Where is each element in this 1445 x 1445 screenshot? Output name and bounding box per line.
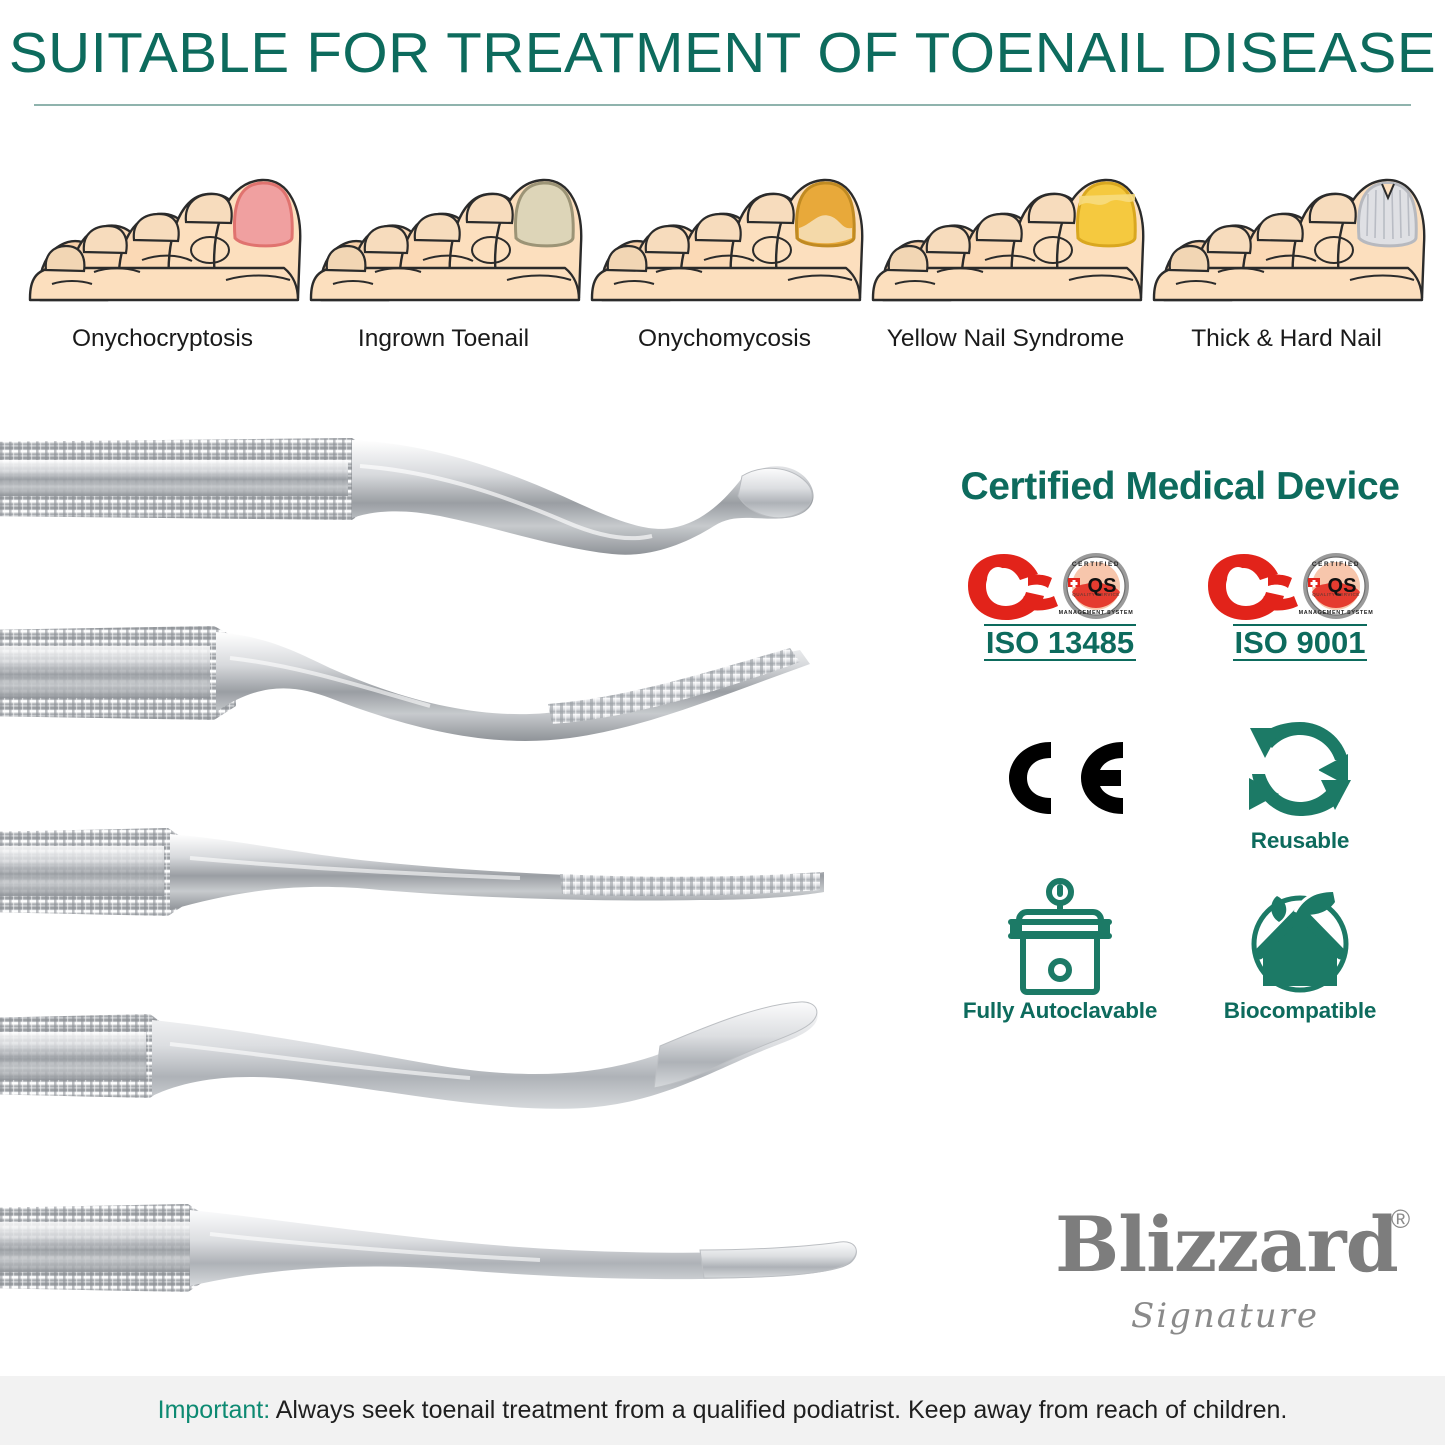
- footer-bar: Important: Always seek toenail treatment…: [0, 1376, 1445, 1445]
- svg-text:MANAGEMENT SYSTEM: MANAGEMENT SYSTEM: [1059, 610, 1134, 616]
- brand-logo: Blizzard ® Signature: [1055, 1200, 1425, 1355]
- title-divider: [34, 104, 1411, 106]
- registered-trademark-icon: ®: [1391, 1204, 1410, 1235]
- iso-standard-label: ISO 13485: [984, 624, 1136, 661]
- svg-text:CERTIFIED: CERTIFIED: [1312, 561, 1360, 568]
- autoclavable-caption: Fully Autoclavable: [940, 998, 1180, 1024]
- condition-card-2: Onychomycosis: [584, 120, 865, 370]
- svg-text:CERTIFIED: CERTIFIED: [1072, 561, 1120, 568]
- infographic-page: SUITABLE FOR TREATMENT OF TOENAIL DISEAS…: [0, 0, 1445, 1445]
- iso-block-13485: QS CERTIFIED MANAGEMENT SYSTEM QUALITY S…: [958, 550, 1163, 661]
- instrument-curved-spatula-icon: [0, 1002, 818, 1109]
- ce-mark-cell: [940, 710, 1180, 880]
- instrument-curved-elevator-icon: [0, 438, 814, 555]
- marks-row-top: Reusable: [940, 710, 1420, 880]
- iso-row: QS CERTIFIED MANAGEMENT SYSTEM QUALITY S…: [940, 550, 1420, 680]
- condition-label: Ingrown Toenail: [303, 325, 584, 353]
- qs-seal-icon: QS CERTIFIED MANAGEMENT SYSTEM QUALITY S…: [1059, 553, 1134, 619]
- footer-note: Important: Always seek toenail treatment…: [0, 1396, 1445, 1425]
- affected-nail: [1077, 183, 1135, 246]
- biocompatible-cell: Biocompatible: [1180, 880, 1420, 1070]
- condition-card-3: Yellow Nail Syndrome: [865, 120, 1146, 370]
- foot-illustration-icon: [1146, 120, 1427, 320]
- certification-title: Certified Medical Device: [940, 465, 1420, 509]
- qs-certification-mark: QS CERTIFIED MANAGEMENT SYSTEM QUALITY S…: [1198, 550, 1403, 622]
- footer-emphasis: Important:: [158, 1396, 271, 1424]
- qs-red-logo-icon: [968, 554, 1058, 620]
- autoclavable-cell: Fully Autoclavable: [940, 880, 1180, 1070]
- marks-row-bottom: Fully Autoclavable Biocompatible: [940, 880, 1420, 1070]
- iso-block-9001: QS CERTIFIED MANAGEMENT SYSTEM QUALITY S…: [1198, 550, 1403, 661]
- qs-seal-icon: QS CERTIFIED MANAGEMENT SYSTEM QUALITY S…: [1299, 553, 1374, 619]
- conditions-row: Onychocryptosis: [22, 120, 1427, 370]
- condition-card-1: Ingrown Toenail: [303, 120, 584, 370]
- ce-mark-icon: [940, 710, 1180, 838]
- autoclave-icon: [940, 880, 1180, 998]
- certification-panel: Certified Medical Device: [940, 455, 1420, 1095]
- brand-name: Blizzard: [1055, 1200, 1395, 1289]
- recycle-icon: [1180, 710, 1420, 828]
- qs-red-logo-icon: [1208, 554, 1298, 620]
- condition-card-0: Onychocryptosis: [22, 120, 303, 370]
- instruments-column: [0, 420, 900, 1320]
- instrument-straight-file-icon: [0, 828, 824, 916]
- reusable-cell: Reusable: [1180, 710, 1420, 880]
- instrument-curved-rasp-icon: [0, 626, 810, 741]
- foot-illustration-icon: [303, 120, 584, 320]
- svg-text:QUALITY SERVICE: QUALITY SERVICE: [1072, 592, 1119, 597]
- brand-tagline: Signature: [1055, 1296, 1395, 1336]
- affected-nail: [515, 183, 573, 246]
- svg-text:MANAGEMENT SYSTEM: MANAGEMENT SYSTEM: [1299, 610, 1374, 616]
- biocompatible-house-leaf-icon: [1180, 880, 1420, 998]
- footer-body: Always seek toenail treatment from a qua…: [270, 1396, 1287, 1424]
- condition-label: Thick & Hard Nail: [1146, 325, 1427, 353]
- instrument-straight-spatula-icon: [0, 1204, 857, 1292]
- foot-illustration-icon: [865, 120, 1146, 320]
- affected-nail: [234, 183, 292, 246]
- svg-text:QUALITY SERVICE: QUALITY SERVICE: [1312, 592, 1359, 597]
- condition-label: Onychocryptosis: [22, 325, 303, 353]
- condition-label: Yellow Nail Syndrome: [865, 325, 1146, 353]
- condition-label: Onychomycosis: [584, 325, 865, 353]
- foot-illustration-icon: [584, 120, 865, 320]
- foot-illustration-icon: [22, 120, 303, 320]
- reusable-caption: Reusable: [1180, 828, 1420, 854]
- biocompatible-caption: Biocompatible: [1180, 998, 1420, 1024]
- condition-card-4: Thick & Hard Nail: [1146, 120, 1427, 370]
- qs-certification-mark: QS CERTIFIED MANAGEMENT SYSTEM QUALITY S…: [958, 550, 1163, 622]
- iso-standard-label: ISO 9001: [1233, 624, 1368, 661]
- page-title: SUITABLE FOR TREATMENT OF TOENAIL DISEAS…: [0, 20, 1445, 86]
